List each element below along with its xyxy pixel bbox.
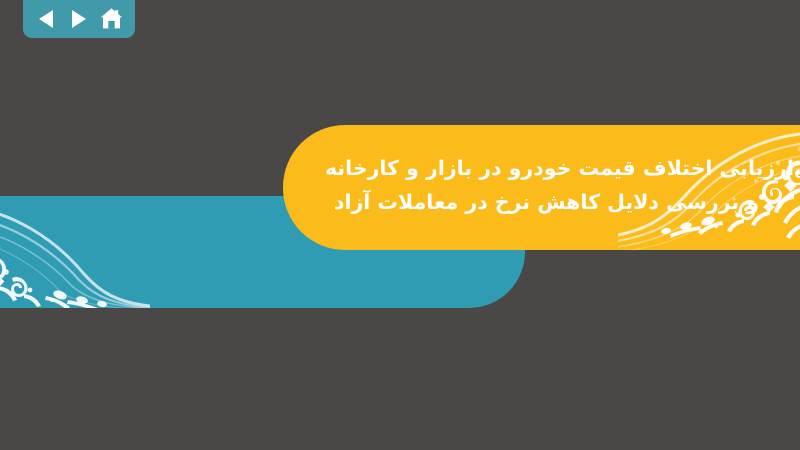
triangle-left-icon [36,8,56,30]
previous-button[interactable] [32,5,60,33]
home-icon [99,7,124,31]
arabesque-corner-ornament-teal [0,196,150,308]
triangle-right-icon [69,8,89,30]
navigation-bar [23,0,135,38]
arabesque-corner-ornament-orange [618,125,800,250]
orange-title-band [283,125,800,250]
home-button[interactable] [98,5,126,33]
presentation-slide: ارزیابی اختلاف قیمت خودرو در بازار و کار… [0,0,800,450]
next-button[interactable] [65,5,93,33]
